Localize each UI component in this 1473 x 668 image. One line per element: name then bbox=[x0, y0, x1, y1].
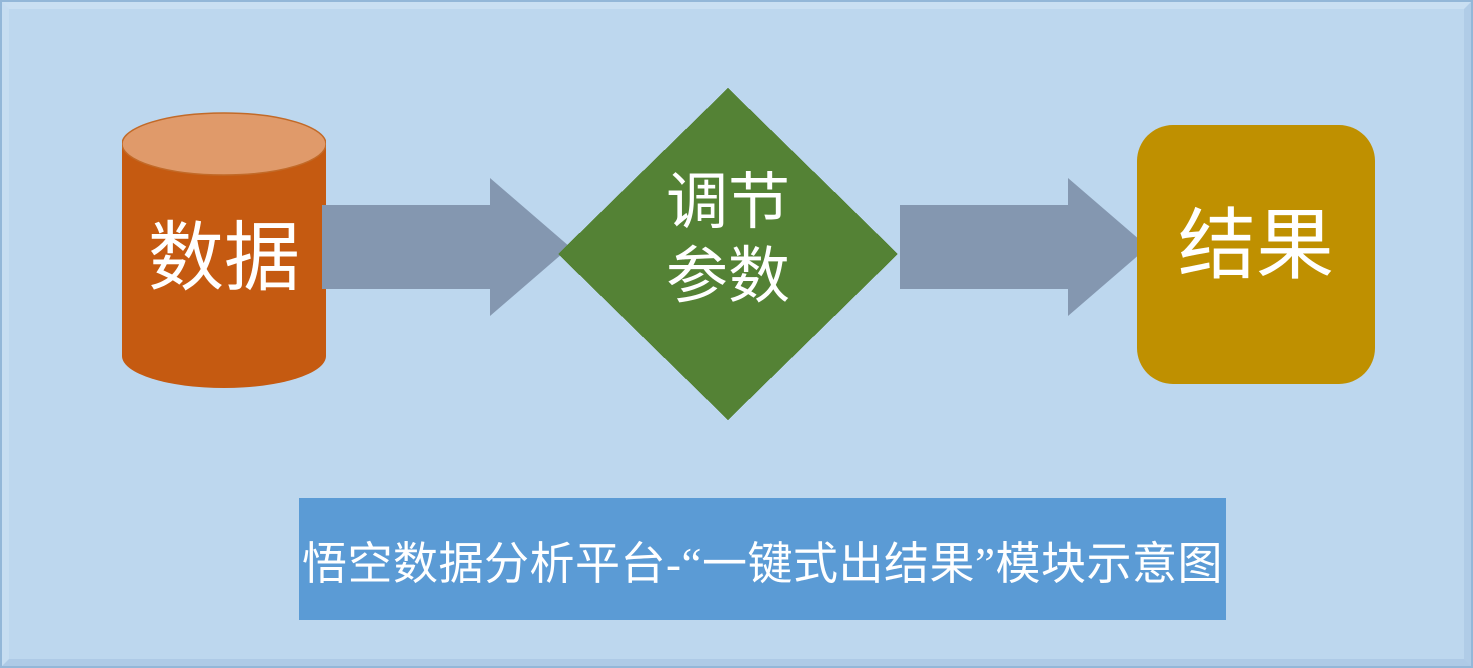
arrow-data-to-parameters bbox=[322, 178, 570, 316]
node-adjust-parameters-diamond[interactable]: 调节参数 bbox=[558, 88, 898, 420]
arrow-shape bbox=[322, 178, 570, 316]
diagram-canvas: 数据 调节参数 结果 悟空数据分析平台-“一键式出结果”模块示意图 bbox=[0, 0, 1473, 668]
arrow-parameters-to-result bbox=[900, 178, 1148, 316]
cylinder-body bbox=[122, 144, 326, 388]
caption-text: 悟空数据分析平台-“一键式出结果”模块示意图 bbox=[302, 527, 1223, 592]
cylinder-top-ellipse bbox=[122, 113, 326, 175]
node-result-box[interactable]: 结果 bbox=[1137, 125, 1375, 384]
diamond-shape bbox=[558, 88, 898, 420]
caption-banner: 悟空数据分析平台-“一键式出结果”模块示意图 bbox=[299, 498, 1226, 620]
arrow-shape bbox=[900, 178, 1148, 316]
node-result-label: 结果 bbox=[1137, 205, 1375, 287]
node-data-cylinder[interactable]: 数据 bbox=[122, 112, 326, 388]
